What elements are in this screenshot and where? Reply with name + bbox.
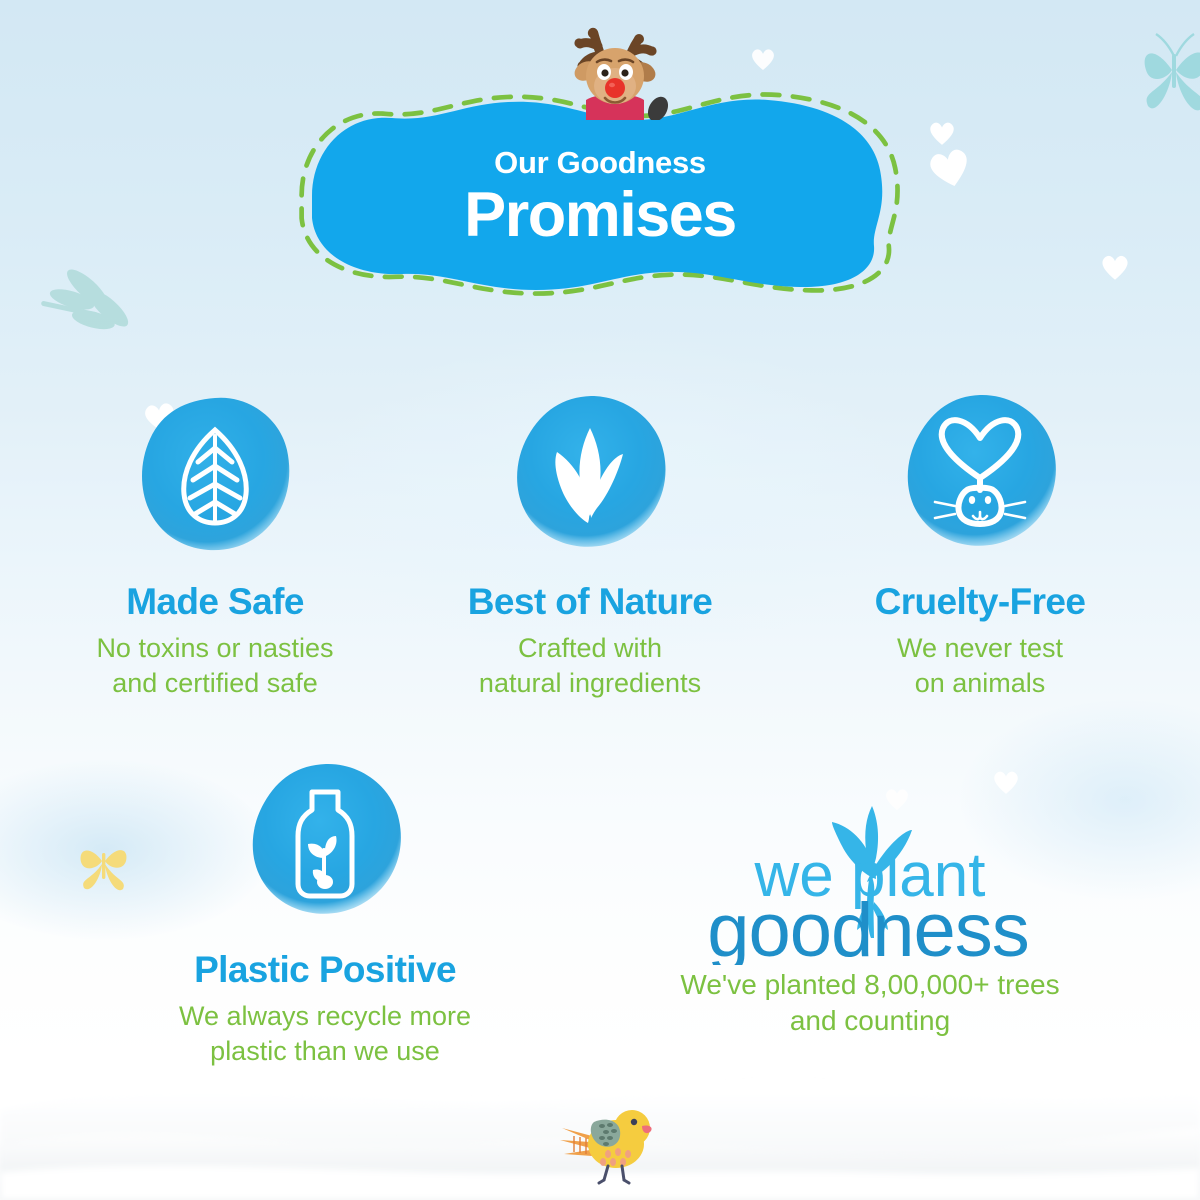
- bunny-face-icon: [895, 390, 1065, 560]
- banner-text-block: Our Goodness Promises: [276, 78, 924, 310]
- heart-icon-3: [923, 141, 976, 194]
- promise-description: Crafted with natural ingredients: [440, 631, 740, 702]
- logo-line2: goodness: [707, 888, 1029, 965]
- three-leaves-icon: [505, 390, 675, 560]
- butterfly-icon-teal: [1138, 18, 1200, 114]
- banner-subtitle: Our Goodness: [494, 147, 706, 180]
- promise-title: Plastic Positive: [175, 950, 475, 991]
- promise-title: Best of Nature: [440, 582, 740, 623]
- we-plant-goodness-description: We've planted 8,00,000+ trees and counti…: [620, 967, 1120, 1040]
- promise-description: We always recycle more plastic than we u…: [175, 999, 475, 1070]
- dragonfly-icon: [30, 248, 150, 358]
- promise-card-plastic-positive: Plastic Positive We always recycle more …: [175, 758, 475, 1070]
- bird-icon: [558, 1092, 662, 1188]
- heart-icon-1: [750, 46, 776, 72]
- promises-banner: Our Goodness Promises: [276, 78, 924, 310]
- leaf-icon: [130, 390, 300, 560]
- banner-title: Promises: [464, 181, 736, 249]
- heart-icon-4: [1100, 252, 1130, 282]
- heart-icon-2: [928, 119, 956, 147]
- bottle-sprout-icon: [240, 758, 410, 928]
- promise-description: We never test on animals: [830, 631, 1130, 702]
- promise-description: No toxins or nasties and certified safe: [65, 631, 365, 702]
- promise-card-cruelty-free: Cruelty-Free We never test on animals: [830, 390, 1130, 702]
- promise-card-best-of-nature: Best of Nature Crafted with natural ingr…: [440, 390, 740, 702]
- promise-card-made-safe: Made Safe No toxins or nasties and certi…: [65, 390, 365, 702]
- promise-title: Cruelty-Free: [830, 582, 1130, 623]
- we-plant-goodness-block: we plant goodness We've planted 8,00,000…: [620, 790, 1120, 1040]
- butterfly-icon-yellow: [75, 835, 133, 893]
- promise-title: Made Safe: [65, 582, 365, 623]
- we-plant-goodness-logo: we plant goodness: [620, 790, 1120, 965]
- promises-infographic: Our Goodness Promises: [0, 0, 1200, 1200]
